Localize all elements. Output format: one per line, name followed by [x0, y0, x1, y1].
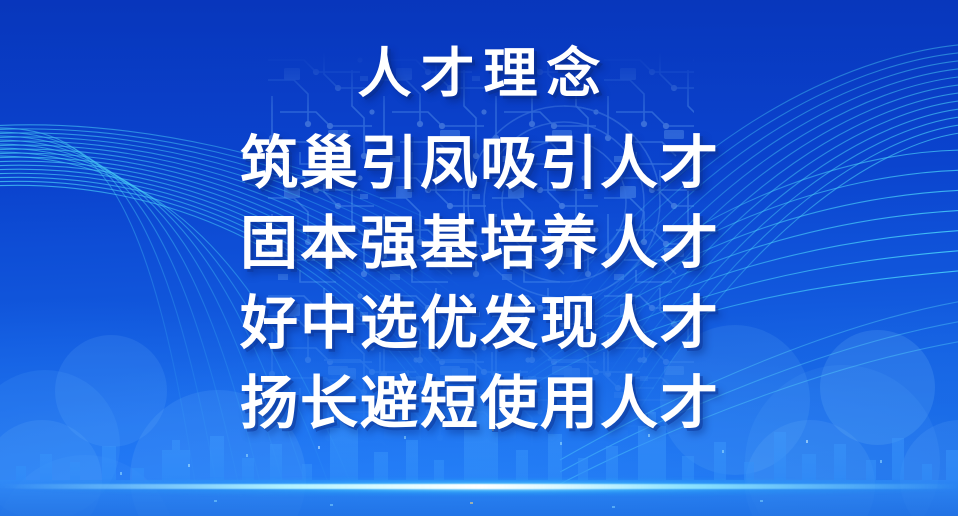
slogan-line-4: 扬长避短使用人才: [238, 364, 720, 444]
talent-philosophy-poster: 人才理念 筑巢引凤吸引人才 固本强基培养人才 好中选优发现人才 扬长避短使用人才: [0, 0, 958, 516]
slogan-line-2: 固本强基培养人才: [238, 204, 720, 284]
slogan-list: 筑巢引凤吸引人才 固本强基培养人才 好中选优发现人才 扬长避短使用人才: [238, 124, 720, 444]
slogan-line-3: 好中选优发现人才: [238, 284, 720, 364]
poster-text-block: 人才理念 筑巢引凤吸引人才 固本强基培养人才 好中选优发现人才 扬长避短使用人才: [0, 0, 958, 516]
slogan-line-1: 筑巢引凤吸引人才: [238, 124, 720, 204]
page-title: 人才理念: [349, 47, 610, 101]
